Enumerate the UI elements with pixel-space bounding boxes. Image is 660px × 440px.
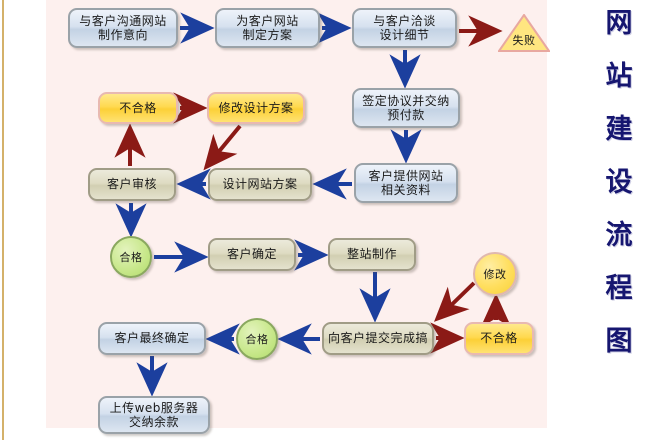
node-client-confirm[interactable]: 客户确定 (208, 238, 296, 271)
node-design-website-plan[interactable]: 设计网站方案 (208, 168, 312, 201)
title-char-4: 设 (606, 169, 633, 196)
title-char-6: 程 (606, 275, 633, 302)
title-char-3: 建 (606, 116, 633, 143)
node-failure-label: 失败 (513, 32, 536, 52)
title-char-5: 流 (606, 222, 633, 249)
node-sign-agreement-prepay[interactable]: 签定协议并交纳 预付款 (352, 88, 460, 128)
title-char-7: 图 (606, 328, 633, 355)
node-submit-finished-draft[interactable]: 向客户提交完成搞 (322, 322, 434, 355)
node-upload-and-final-payment[interactable]: 上传web服务器 交纳余款 (98, 396, 210, 434)
flowchart-page: 与客户沟通网站 制作意向 为客户网站 制定方案 与客户洽谈 设计细节 失败 签定… (0, 0, 660, 440)
node-passed-lower[interactable]: 合格 (236, 318, 278, 360)
node-discuss-design-details[interactable]: 与客户洽谈 设计细节 (352, 8, 457, 48)
title-char-2: 站 (606, 63, 633, 90)
node-failure-triangle[interactable]: 失败 (498, 14, 550, 52)
node-revise[interactable]: 修改 (473, 252, 517, 296)
diagram-canvas (46, 0, 547, 428)
node-client-review[interactable]: 客户审核 (88, 168, 176, 201)
node-full-site-build[interactable]: 整站制作 (328, 238, 416, 271)
node-revise-design-plan[interactable]: 修改设计方案 (207, 92, 305, 124)
node-rejected-lower[interactable]: 不合格 (464, 322, 534, 355)
page-title-vertical: 网 站 建 设 流 程 图 (598, 10, 640, 381)
node-create-plan[interactable]: 为客户网站 制定方案 (215, 8, 320, 48)
title-char-1: 网 (606, 10, 633, 37)
node-client-final-confirm[interactable]: 客户最终确定 (98, 322, 206, 355)
left-margin-rule (2, 0, 4, 440)
node-rejected-upper[interactable]: 不合格 (98, 92, 178, 124)
node-client-communication[interactable]: 与客户沟通网站 制作意向 (68, 8, 178, 48)
node-client-provides-materials[interactable]: 客户提供网站 相关资料 (354, 163, 458, 203)
node-passed-upper[interactable]: 合格 (110, 236, 152, 278)
